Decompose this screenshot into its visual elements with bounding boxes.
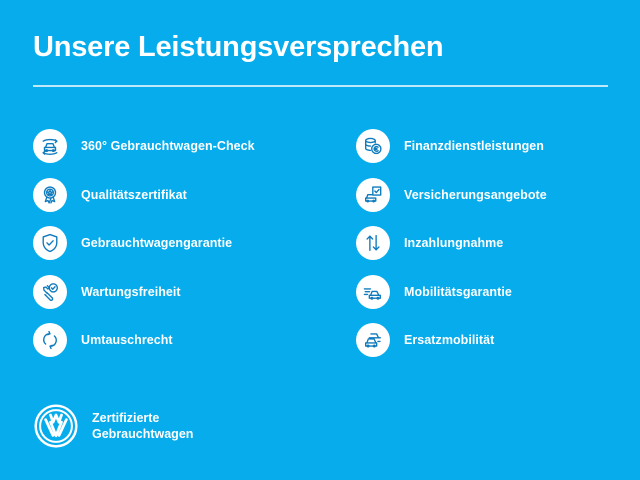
benefit-item-exchange-right: Umtauschrecht <box>33 316 323 365</box>
benefit-item-trade-in: Inzahlungnahme <box>356 219 616 268</box>
benefit-label: Mobilitätsgarantie <box>404 285 512 299</box>
wrench-check-icon <box>33 275 67 309</box>
benefit-item-quality-certificate: Qualitätszertifikat <box>33 171 323 220</box>
benefit-item-insurance-offers: Versicherungsangebote <box>356 171 616 220</box>
shield-check-icon <box>33 226 67 260</box>
benefit-label: Inzahlungnahme <box>404 236 503 250</box>
header: Unsere Leistungsversprechen <box>33 30 608 64</box>
volkswagen-logo <box>33 403 79 449</box>
award-rosette-icon <box>33 178 67 212</box>
brand-text: Zertifizierte Gebrauchtwagen <box>92 410 193 442</box>
benefit-label: Gebrauchtwagengarantie <box>81 236 232 250</box>
coins-euro-icon <box>356 129 390 163</box>
promo-poster: Unsere Leistungsversprechen <box>0 0 640 480</box>
benefits-left-column: 360° Gebrauchtwagen-Check Qualitätszerti… <box>33 122 323 365</box>
brand-lockup: Zertifizierte Gebrauchtwagen <box>33 403 193 449</box>
benefits-right-column: Finanzdienstleistungen Versicherungsange… <box>356 122 616 365</box>
up-down-arrows-icon <box>356 226 390 260</box>
benefit-item-mobility-guarantee: Mobilitätsgarantie <box>356 268 616 317</box>
exchange-arrows-icon <box>33 323 67 357</box>
benefit-item-financial-services: Finanzdienstleistungen <box>356 122 616 171</box>
benefit-label: Ersatzmobilität <box>404 333 494 347</box>
benefits-section: 360° Gebrauchtwagen-Check Qualitätszerti… <box>0 122 640 365</box>
benefit-label: Qualitätszertifikat <box>81 188 187 202</box>
page-title: Unsere Leistungsversprechen <box>33 30 608 64</box>
benefit-item-replacement-mobility: Ersatzmobilität <box>356 316 616 365</box>
car-360-check-icon <box>33 129 67 163</box>
brand-line-1: Zertifizierte <box>92 411 159 425</box>
benefit-item-360-check: 360° Gebrauchtwagen-Check <box>33 122 323 171</box>
benefit-item-warranty: Gebrauchtwagengarantie <box>33 219 323 268</box>
title-divider <box>33 85 608 87</box>
benefit-label: Umtauschrecht <box>81 333 173 347</box>
benefit-item-maintenance-free: Wartungsfreiheit <box>33 268 323 317</box>
benefit-label: Finanzdienstleistungen <box>404 139 544 153</box>
brand-line-2: Gebrauchtwagen <box>92 427 193 441</box>
car-document-icon <box>356 178 390 212</box>
tow-car-icon <box>356 275 390 309</box>
benefit-label: 360° Gebrauchtwagen-Check <box>81 139 255 153</box>
two-cars-icon <box>356 323 390 357</box>
benefit-label: Wartungsfreiheit <box>81 285 181 299</box>
benefit-label: Versicherungsangebote <box>404 188 547 202</box>
